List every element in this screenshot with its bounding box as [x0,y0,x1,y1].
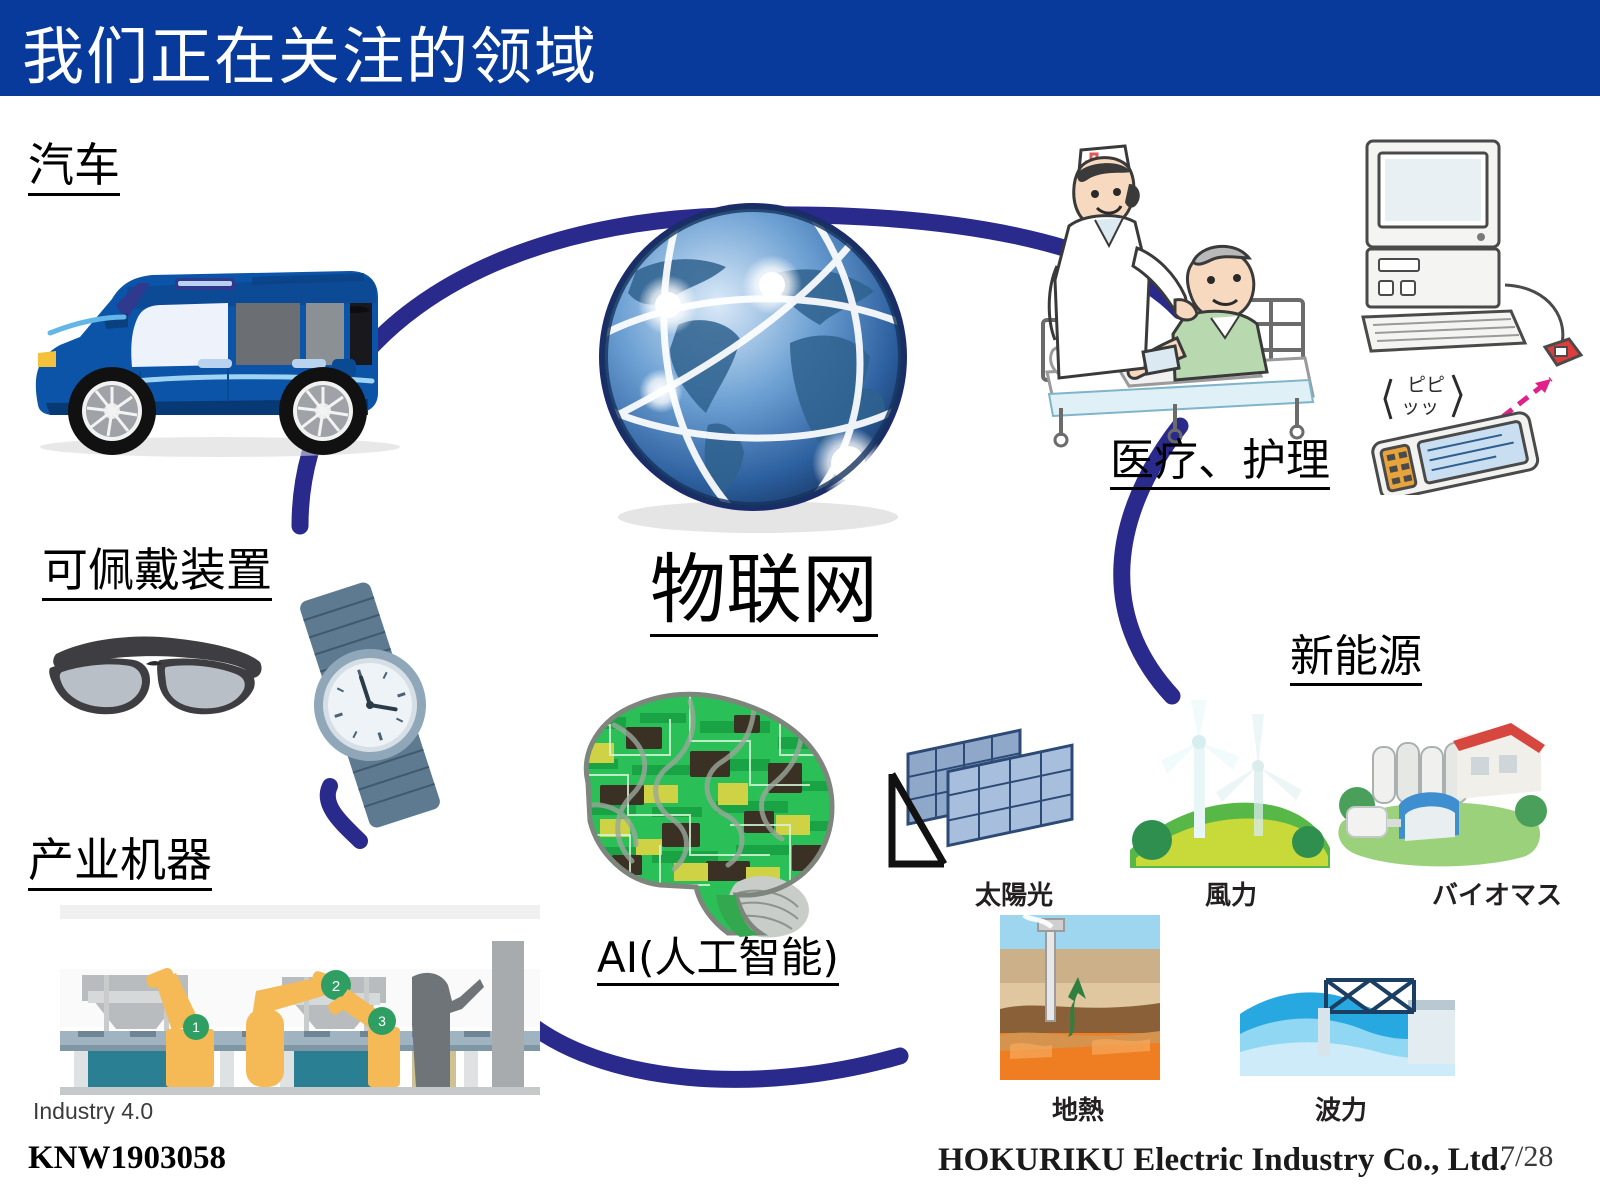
illustration-computer: ピピ ッッ [1355,135,1590,495]
svg-text:3: 3 [378,1013,386,1029]
illustration-factory: 1 2 3 [60,905,540,1095]
label-iot: 物联网 [650,548,878,637]
label-new-energy: 新能源 [1290,633,1422,686]
footer-page-number: 7/28 [1500,1140,1553,1174]
label-wearable: 可佩戴装置 [42,545,272,601]
illustration-nurse-patient [1025,140,1325,450]
footer-doc-code: KNW1903058 [28,1140,226,1177]
footer-industry-label: Industry 4.0 [33,1098,153,1125]
caption-solar: 太陽光 [975,875,1053,912]
illustration-car [20,225,420,465]
caption-wave: 波力 [1315,1090,1367,1127]
page-title: 我们正在关注的领域 [22,6,598,96]
illustration-brain [540,655,860,945]
illustration-globe [558,175,948,545]
label-medical-nursing: 医疗、护理 [1110,437,1330,490]
caption-wind: 風力 [1205,875,1257,912]
illustration-watch [275,580,465,830]
illustration-geothermal [1000,915,1160,1080]
illustration-glasses [40,620,270,740]
label-ai: AI(人工智能) [597,935,839,986]
footer-company-name: HOKURIKU Electric Industry Co., Ltd. [938,1142,1507,1179]
caption-geothermal: 地熱 [1052,1090,1104,1127]
illustration-solar [880,700,1110,880]
illustration-wind [1130,700,1330,875]
slide-canvas: 我们正在关注的领域 [0,0,1600,1200]
caption-biomass: バイオマス [1432,875,1562,912]
illustration-wave [1240,960,1455,1080]
slide-title-bar: 我们正在关注的领域 [0,0,1600,96]
svg-text:1: 1 [192,1019,200,1035]
illustration-biomass [1335,695,1550,880]
label-industrial-machine: 产业机器 [28,835,212,891]
title-divider [0,96,1600,100]
svg-text:ピピ: ピピ [1407,374,1445,396]
label-automobile: 汽车 [28,140,120,196]
svg-text:2: 2 [332,978,340,995]
svg-text:ッッ: ッッ [1401,396,1439,418]
